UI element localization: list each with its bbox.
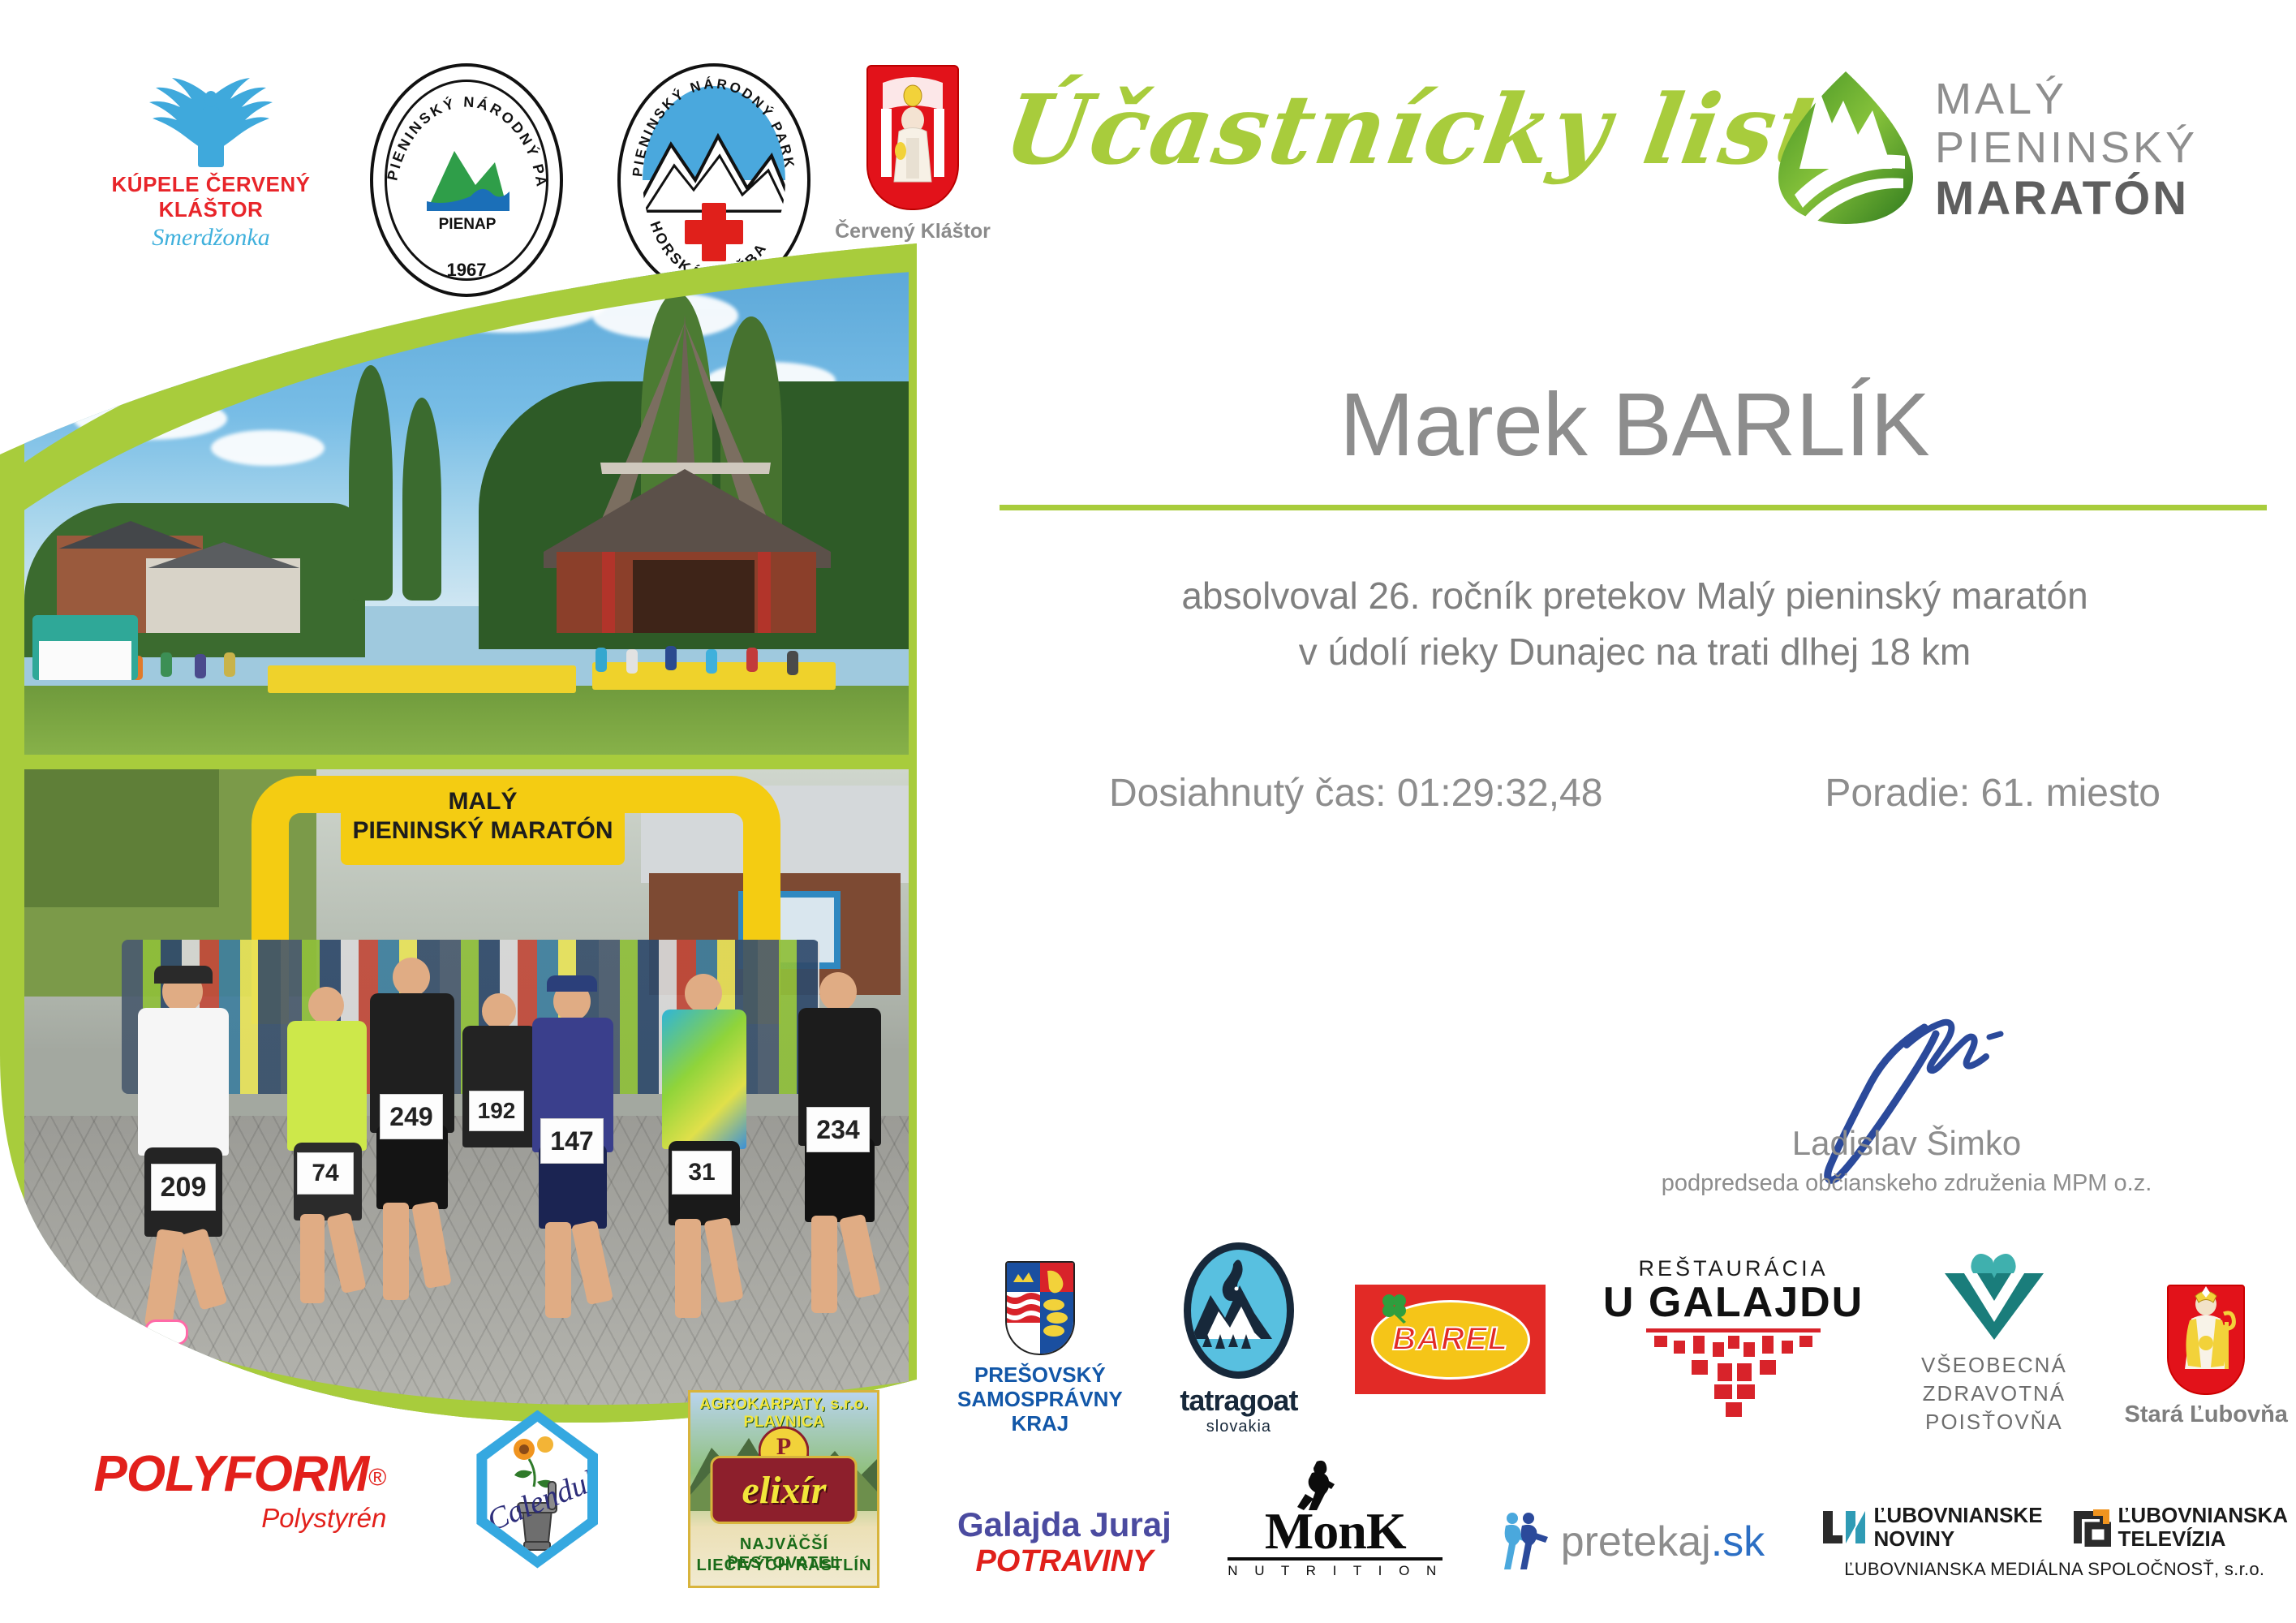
partner-logo-kupele-cerveny-klastor: KÚPELE ČERVENÝ KLÁŠTOR Smerdžonka bbox=[89, 65, 333, 252]
pienap-center-label: PIENAP bbox=[439, 216, 497, 233]
monk-runner-icon bbox=[1291, 1460, 1339, 1512]
arch-banner: MALÝ PIENINSKÝ MARATÓN bbox=[341, 781, 625, 865]
presov-line2: SAMOSPRÁVNY bbox=[957, 1388, 1123, 1412]
monk-sub: N U T R I T I O N bbox=[1228, 1563, 1443, 1579]
polyform-name: POLYFORM bbox=[94, 1446, 369, 1502]
running-figures-icon bbox=[1499, 1511, 1551, 1573]
stara-lubovna-name: Stará Ľubovňa bbox=[2125, 1401, 2288, 1428]
kupele-name: KÚPELE ČERVENÝ KLÁŠTOR bbox=[89, 172, 333, 222]
sponsor-row-main: PREŠOVSKÝ SAMOSPRÁVNY KRAJ ® tatragoat s… bbox=[957, 1233, 2288, 1436]
pretekaj-name: pretekaj bbox=[1561, 1518, 1711, 1565]
galajdu-main: U GALAJDU bbox=[1603, 1281, 1864, 1324]
tatragoat-sub: slovakia bbox=[1180, 1418, 1297, 1436]
sponsor-calendula: Calendula bbox=[476, 1410, 598, 1569]
sponsor-row-left: POLYFORM® Polystyrén bbox=[49, 1371, 925, 1607]
calendula-hex-icon: Calendula bbox=[476, 1410, 598, 1569]
tatragoat-icon: ® bbox=[1184, 1242, 1294, 1379]
event-logo-line1: MALÝ bbox=[1935, 75, 2198, 123]
sponsor-u-galajdu: REŠTAURÁCIA U GALAJDU bbox=[1603, 1256, 1864, 1436]
polyform-trademark: ® bbox=[368, 1464, 386, 1491]
media-company-footer: ĽUBOVNIANSKA MEDIÁLNA SPOLOČNOSŤ, s.r.o. bbox=[1821, 1559, 2288, 1580]
barel-oval: BAREL bbox=[1371, 1300, 1530, 1380]
event-logo-line2: PIENINSKÝ bbox=[1935, 123, 2198, 172]
vszp-line1: VŠEOBECNÁ bbox=[1921, 1351, 2067, 1380]
elixir-brand: elixír bbox=[742, 1468, 826, 1513]
runner-figure: 234 bbox=[777, 972, 907, 1345]
participant-name: Marek BARLÍK bbox=[998, 373, 2272, 476]
result-place: Poradie: 61. miesto bbox=[1825, 771, 2161, 816]
galajda-line1: Galajda Juraj bbox=[957, 1505, 1172, 1544]
bib-number: 209 bbox=[151, 1164, 216, 1211]
bib-number: 147 bbox=[540, 1118, 604, 1164]
presov-line1: PREŠOVSKÝ bbox=[957, 1363, 1123, 1388]
sponsor-row-bottom: Galajda Juraj POTRAVINY MonK N U T R I T… bbox=[957, 1469, 2288, 1615]
pretekaj-tld: .sk bbox=[1711, 1518, 1765, 1565]
barel-name: BAREL bbox=[1392, 1321, 1508, 1358]
event-logo-wordmark: MALÝ PIENINSKÝ MARATÓN bbox=[1935, 75, 2198, 226]
certificate-header: Účastnícky list bbox=[998, 65, 2272, 252]
presov-line3: KRAJ bbox=[957, 1412, 1123, 1436]
galajdu-top: REŠTAURÁCIA bbox=[1603, 1256, 1864, 1281]
lt-mark-icon bbox=[2070, 1508, 2111, 1547]
sponsor-lubovnianska-medialna: ĽUBOVNIANSKE NOVINY ĽUBOVNIANSKA TELEVÍZ… bbox=[1821, 1504, 2288, 1579]
sponsor-tatragoat: ® tatragoat slovakia bbox=[1180, 1242, 1297, 1436]
coat-of-arms-icon bbox=[866, 65, 959, 210]
body-line-1: absolvoval 26. ročník pretekov Malý pien… bbox=[998, 568, 2272, 624]
sponsor-pretekaj-sk: pretekaj.sk bbox=[1499, 1511, 1765, 1573]
barel-logo-box: BAREL bbox=[1355, 1285, 1546, 1394]
ln-mark-icon bbox=[1821, 1508, 1867, 1547]
event-logo-line3: MARATÓN bbox=[1935, 173, 2198, 226]
agrokarpaty-logo-box: AGROKARPATY, s.r.o. PLAVNICA P elixír NA… bbox=[688, 1390, 879, 1588]
vszp-line3: POISŤOVŇA bbox=[1921, 1408, 2067, 1436]
monk-name: MonK bbox=[1228, 1505, 1443, 1561]
photo-clip-shape: MALÝ PIENINSKÝ MARATÓN 209 bbox=[0, 243, 925, 1428]
vszp-line2: ZDRAVOTNÁ bbox=[1921, 1380, 2067, 1408]
ln-line1: ĽUBOVNIANSKE bbox=[1874, 1504, 2043, 1527]
sponsor-polyform: POLYFORM® Polystyrén bbox=[94, 1445, 387, 1534]
bib-number: 31 bbox=[672, 1151, 732, 1195]
sponsor-monk-nutrition: MonK N U T R I T I O N bbox=[1228, 1505, 1443, 1579]
polyform-sub: Polystyrén bbox=[94, 1503, 387, 1534]
lt-line2: TELEVÍZIA bbox=[2118, 1527, 2288, 1551]
presov-coat-of-arms-icon bbox=[1005, 1261, 1075, 1355]
event-logo: MALÝ PIENINSKÝ MARATÓN bbox=[1769, 65, 2272, 235]
cerveny-klastor-label: Červený Kláštor bbox=[819, 220, 1006, 243]
agrokarpaty-bottom2: LIEČIVÝCH RASTLÍN bbox=[690, 1556, 877, 1575]
result-time: Dosiahnutý čas: 01:29:32,48 bbox=[1109, 771, 1602, 816]
lubovnianske-noviny-logo: ĽUBOVNIANSKE NOVINY bbox=[1821, 1504, 2043, 1550]
certificate-body: absolvoval 26. ročník pretekov Malý pien… bbox=[998, 568, 2272, 680]
page-title: Účastnícky list bbox=[997, 73, 1832, 186]
lt-line1: ĽUBOVNIANSKA bbox=[2118, 1504, 2288, 1527]
certificate-page: KÚPELE ČERVENÝ KLÁŠTOR Smerdžonka PIENIN… bbox=[0, 0, 2296, 1623]
runner-figure: 31 bbox=[641, 974, 775, 1347]
top-partner-logos: KÚPELE ČERVENÝ KLÁŠTOR Smerdžonka PIENIN… bbox=[0, 57, 974, 260]
stara-lubovna-coat-of-arms-icon bbox=[2167, 1285, 2245, 1395]
sponsor-stara-lubovna: Stará Ľubovňa bbox=[2125, 1285, 2288, 1436]
sponsor-agrokarpaty-elixir: AGROKARPATY, s.r.o. PLAVNICA P elixír NA… bbox=[688, 1390, 879, 1588]
bib-number: 74 bbox=[297, 1152, 354, 1195]
arch-line2: PIENINSKÝ MARATÓN bbox=[341, 816, 625, 846]
mpm-leaf-mountain-icon bbox=[1769, 65, 1923, 227]
sponsor-vszp: VŠEOBECNÁ ZDRAVOTNÁ POISŤOVŇA bbox=[1921, 1254, 2067, 1436]
horska-ring-top: PIENINSKÝ NÁRODNÝ PARK bbox=[630, 76, 798, 178]
green-divider bbox=[1000, 505, 2267, 510]
bib-number: 249 bbox=[380, 1094, 443, 1139]
runner-figure: 147 bbox=[511, 982, 641, 1347]
photo-race-start: MALÝ PIENINSKÝ MARATÓN 209 bbox=[24, 769, 909, 1410]
ln-line2: NOVINY bbox=[1874, 1527, 2043, 1551]
signatory-role: podpredseda občianskeho združenia MPM o.… bbox=[1623, 1170, 2191, 1197]
galajda-line2: POTRAVINY bbox=[957, 1544, 1172, 1579]
result-row: Dosiahnutý čas: 01:29:32,48 Poradie: 61.… bbox=[998, 771, 2272, 816]
sponsor-presovsky-kraj: PREŠOVSKÝ SAMOSPRÁVNY KRAJ bbox=[957, 1261, 1123, 1436]
arch-line1: MALÝ bbox=[341, 787, 625, 816]
body-line-2: v údolí rieky Dunajec na trati dlhej 18 … bbox=[998, 624, 2272, 680]
folk-ornament-icon bbox=[1646, 1332, 1821, 1418]
photo-panel: MALÝ PIENINSKÝ MARATÓN 209 bbox=[0, 243, 925, 1428]
bib-number: 234 bbox=[806, 1107, 870, 1152]
signatory-name: Ladislav Šimko bbox=[1623, 1124, 2191, 1163]
sponsor-galajda-juraj: Galajda Juraj POTRAVINY bbox=[957, 1505, 1172, 1579]
runner-figure: 209 bbox=[115, 971, 253, 1352]
sponsor-barel: BAREL bbox=[1355, 1285, 1546, 1436]
elixir-badge: elixír bbox=[711, 1456, 858, 1524]
signature-block: Ladislav Šimko podpredseda občianskeho z… bbox=[1623, 998, 2191, 1209]
tatragoat-name: tatragoat bbox=[1180, 1384, 1297, 1418]
svg-text:PIENINSKÝ NÁRODNÝ PARK: PIENINSKÝ NÁRODNÝ PARK bbox=[630, 76, 798, 178]
vszp-icon bbox=[1941, 1254, 2047, 1341]
wings-icon bbox=[89, 65, 333, 170]
lubovnianska-televizia-logo: ĽUBOVNIANSKA TELEVÍZIA bbox=[2070, 1504, 2288, 1550]
partner-logo-cerveny-klastor: Červený Kláštor bbox=[819, 65, 1006, 243]
